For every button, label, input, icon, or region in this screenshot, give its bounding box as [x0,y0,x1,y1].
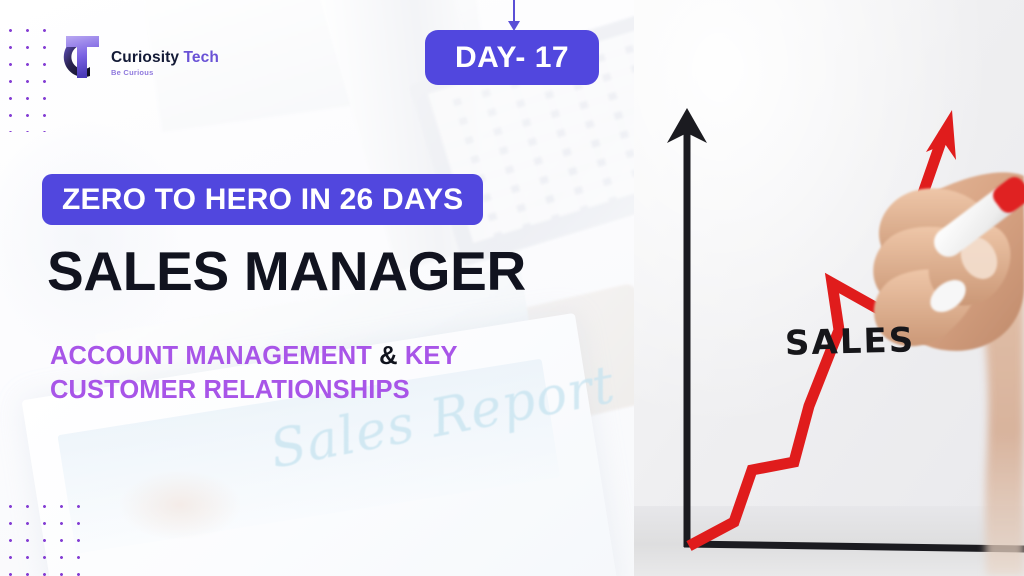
arrow-down-icon [505,0,523,32]
dot-grid-top-left [2,22,54,132]
day-badge: DAY- 17 [425,30,599,85]
page-subtitle-line2: CUSTOMER RELATIONSHIPS [50,376,410,404]
left-content-panel: Sales Report [0,0,634,576]
background-warm-glow [120,470,240,540]
curiosity-tech-logo-icon [52,26,104,88]
brand-tagline: Be Curious [111,69,219,77]
brand-logo-text: Curiosity Tech Be Curious [111,38,219,77]
page-subtitle-ampersand: & [379,342,398,370]
brand-name-part1: Curiosity [111,49,179,66]
series-eyebrow-pill: ZERO TO HERO IN 26 DAYS [42,174,483,225]
brand-name-part2: Tech [184,49,219,66]
dot-grid-bottom-left [2,498,90,576]
series-eyebrow-label: ZERO TO HERO IN 26 DAYS [62,185,463,215]
brand-name: Curiosity Tech [111,50,219,66]
right-image-panel: SALES [634,0,1024,576]
day-badge-label: DAY- 17 [455,43,569,73]
brand-logo[interactable]: Curiosity Tech Be Curious [52,26,219,88]
page-subtitle-line1-b: KEY [398,342,458,370]
hand-holding-marker-icon [634,0,1024,576]
page-subtitle-line1-a: ACCOUNT MANAGEMENT [50,342,379,370]
page-subtitle: ACCOUNT MANAGEMENT & KEY CUSTOMER RELATI… [50,340,458,407]
page-title: SALES MANAGER [47,244,526,299]
promo-poster: Sales Report [0,0,1024,576]
chart-sales-label: SALES [785,323,916,360]
